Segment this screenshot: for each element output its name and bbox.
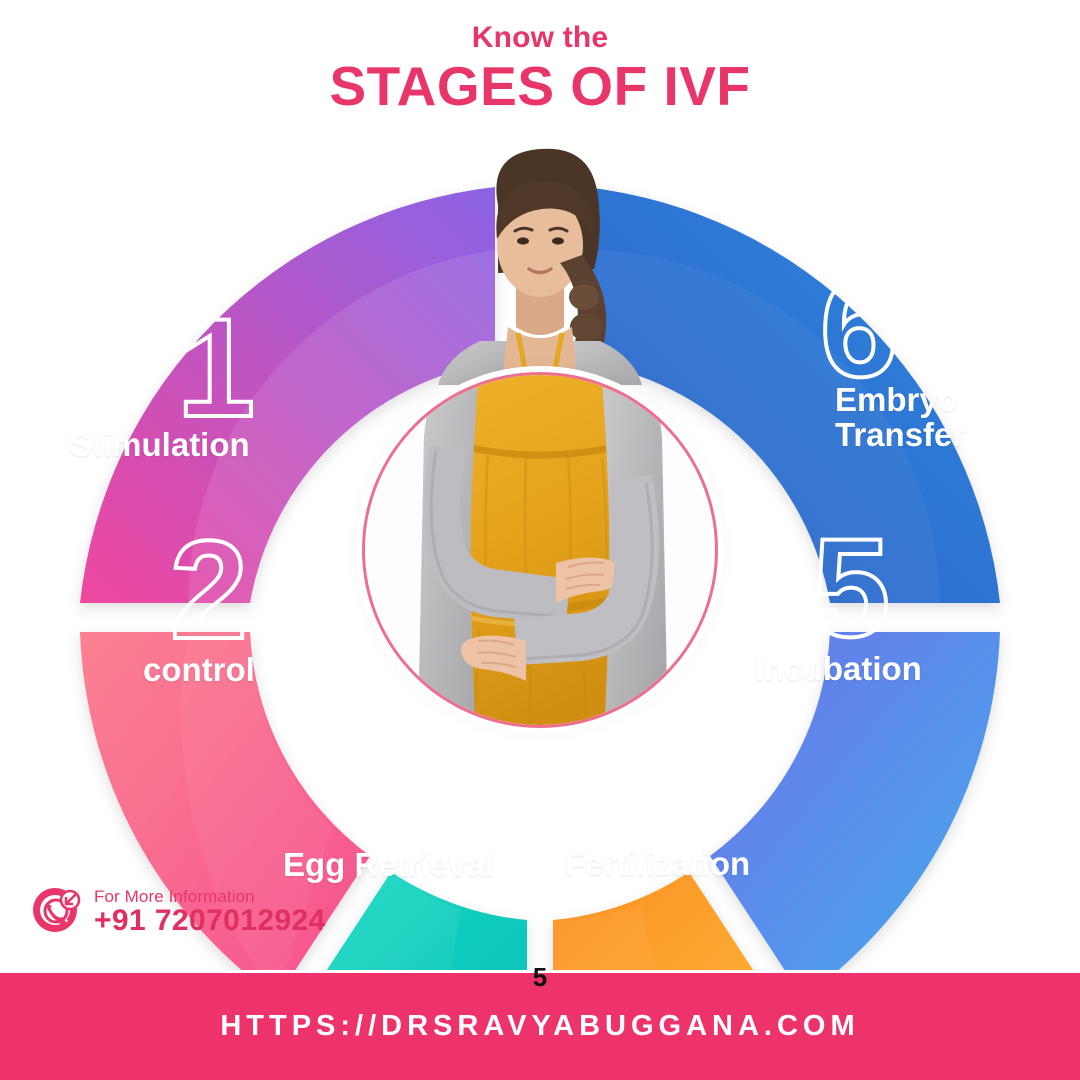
website-url[interactable]: HTTPS://DRSRAVYABUGGANA.COM (220, 1010, 859, 1043)
contact-text: For More Information +91 7207012924 (94, 888, 326, 937)
title-block: Know the STAGES OF IVF (0, 22, 1080, 115)
pregnant-woman-photo (365, 375, 715, 725)
kicker-text: Know the (0, 22, 1080, 54)
wheel-segment-5 (710, 632, 1000, 970)
contact-block[interactable]: For More Information +91 7207012924 (28, 884, 326, 941)
page-number: 5 (0, 962, 1080, 993)
page-title: STAGES OF IVF (0, 58, 1080, 116)
contact-phone[interactable]: +91 7207012924 (94, 904, 326, 937)
center-photo (365, 375, 715, 725)
infographic-canvas: Know the STAGES OF IVF (0, 0, 1080, 1080)
center-photo-clip (365, 375, 715, 725)
phone-call-icon (28, 884, 84, 941)
contact-heading: For More Information (94, 887, 255, 906)
